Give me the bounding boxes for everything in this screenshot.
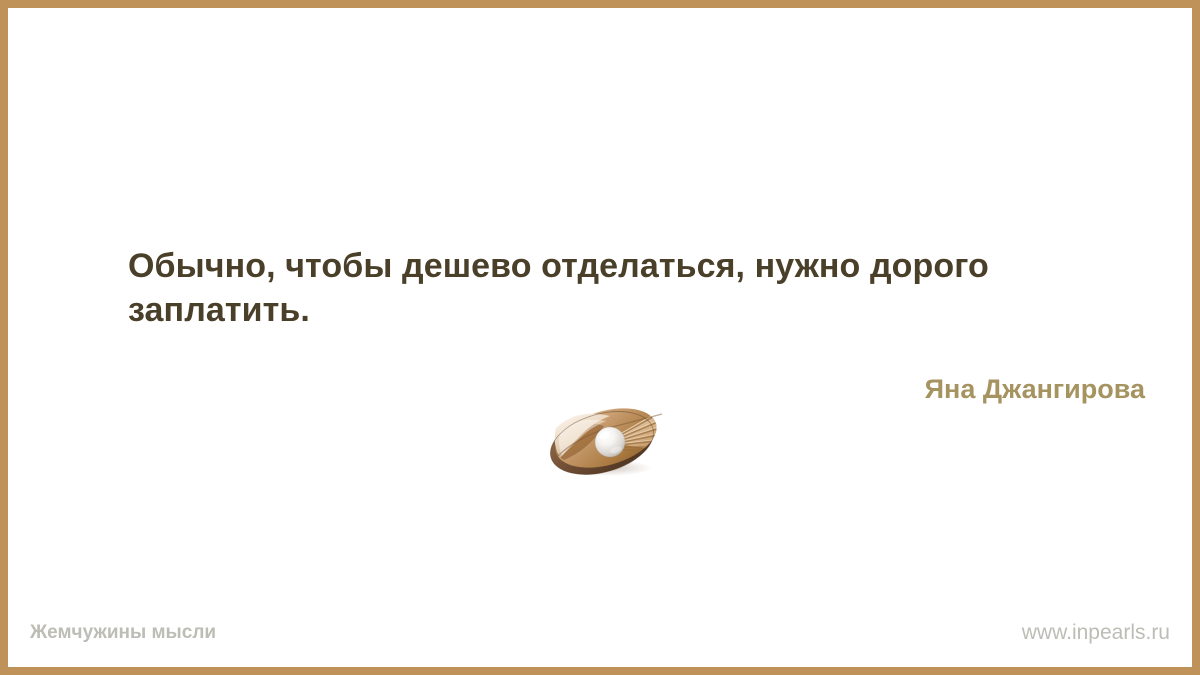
site-url-link[interactable]: www.inpearls.ru	[1022, 620, 1170, 646]
oyster-shell-with-pearl-icon	[536, 398, 676, 482]
quote-author: Яна Джангирова	[925, 372, 1145, 406]
site-name: Жемчужины мысли	[30, 621, 216, 645]
quote-card: Обычно, чтобы дешево отделаться, нужно д…	[0, 0, 1200, 675]
quote-text: Обычно, чтобы дешево отделаться, нужно д…	[128, 244, 1088, 332]
